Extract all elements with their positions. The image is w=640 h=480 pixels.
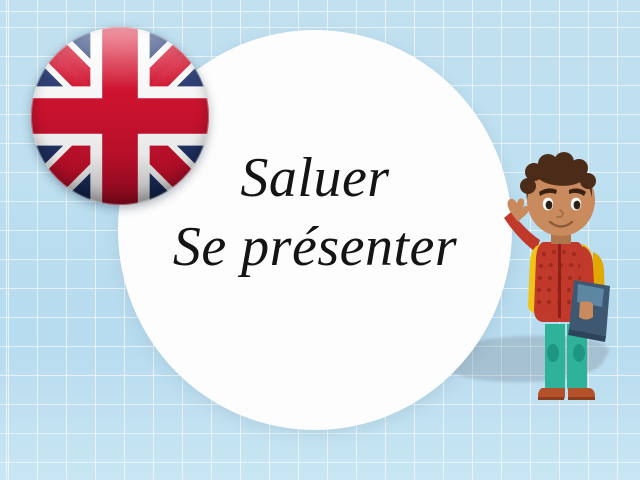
shoes [538, 388, 595, 400]
waving-schoolboy-icon[interactable] [494, 148, 622, 416]
holding-hand [579, 301, 593, 319]
schoolboy-svg [494, 148, 622, 416]
head [520, 152, 596, 236]
slide-canvas: Saluer Se présenter [0, 0, 640, 480]
union-jack-svg [31, 27, 209, 205]
title-line-2: Se présenter [118, 219, 512, 276]
union-jack-flag-icon[interactable] [31, 27, 209, 205]
